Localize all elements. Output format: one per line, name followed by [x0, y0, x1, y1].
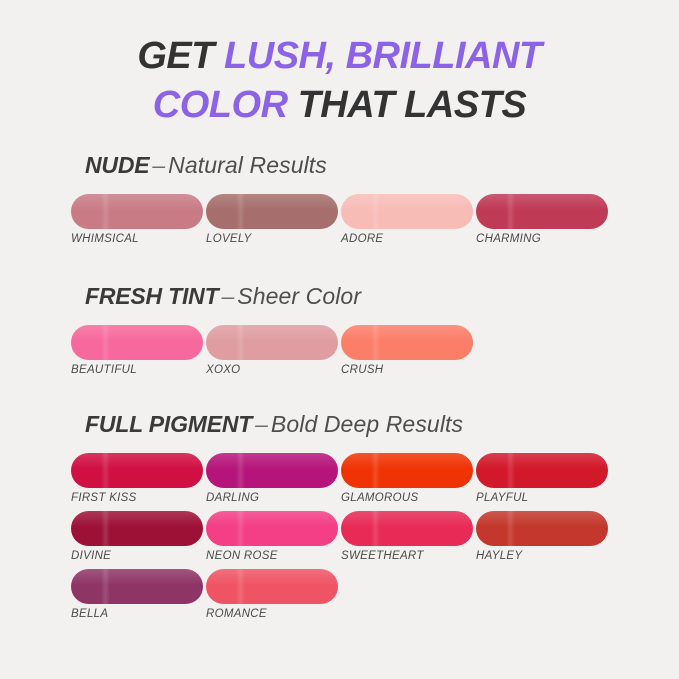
- swatch-item[interactable]: SWEETHEART: [341, 511, 475, 562]
- swatch-label: CHARMING: [476, 233, 610, 245]
- color-swatch[interactable]: [476, 453, 608, 488]
- section-subtitle: Natural Results: [168, 152, 327, 178]
- swatch-label: SWEETHEART: [341, 550, 475, 562]
- color-swatch[interactable]: [71, 194, 203, 229]
- swatch-label: NEON ROSE: [206, 550, 340, 562]
- swatch-label: LOVELY: [206, 233, 340, 245]
- swatch-label: WHIMSICAL: [71, 233, 205, 245]
- color-swatch[interactable]: [71, 569, 203, 604]
- section-dash: –: [218, 283, 237, 309]
- section-header-nude: NUDE–Natural Results: [85, 152, 679, 179]
- swatch-label: DARLING: [206, 492, 340, 504]
- headline-seg-lush-brilliant: LUSH, BRILLIANT: [224, 35, 542, 77]
- section-header-fresh-tint: FRESH TINT–Sheer Color: [85, 283, 679, 310]
- swatch-item[interactable]: HAYLEY: [476, 511, 610, 562]
- color-swatch[interactable]: [206, 194, 338, 229]
- color-swatch[interactable]: [206, 569, 338, 604]
- swatch-item[interactable]: XOXO: [206, 325, 340, 376]
- headline-line-1: GET LUSH, BRILLIANT: [0, 32, 679, 81]
- swatch-item[interactable]: BEAUTIFUL: [71, 325, 205, 376]
- lipstick-shade-chart: GET LUSH, BRILLIANT COLOR THAT LASTS NUD…: [0, 0, 679, 679]
- headline-seg-get: GET: [137, 35, 224, 77]
- swatch-item[interactable]: NEON ROSE: [206, 511, 340, 562]
- swatch-label: DIVINE: [71, 550, 205, 562]
- color-swatch[interactable]: [206, 511, 338, 546]
- swatch-label: PLAYFUL: [476, 492, 610, 504]
- headline-line-2: COLOR THAT LASTS: [0, 81, 679, 130]
- section-name: FRESH TINT: [85, 283, 218, 309]
- color-swatch[interactable]: [206, 325, 338, 360]
- swatch-item[interactable]: DIVINE: [71, 511, 205, 562]
- section-name: NUDE: [85, 152, 149, 178]
- section-nude: NUDE–Natural Results WHIMSICAL LOVELY AD…: [0, 152, 679, 252]
- swatch-item[interactable]: GLAMOROUS: [341, 453, 475, 504]
- swatch-label: CRUSH: [341, 364, 475, 376]
- swatch-label: GLAMOROUS: [341, 492, 475, 504]
- swatch-label: ADORE: [341, 233, 475, 245]
- section-subtitle: Bold Deep Results: [271, 411, 463, 437]
- swatch-item[interactable]: CHARMING: [476, 194, 610, 245]
- color-swatch[interactable]: [71, 511, 203, 546]
- swatch-item[interactable]: FIRST KISS: [71, 453, 205, 504]
- section-header-full-pigment: FULL PIGMENT–Bold Deep Results: [85, 411, 679, 438]
- color-swatch[interactable]: [476, 194, 608, 229]
- section-name: FULL PIGMENT: [85, 411, 252, 437]
- swatch-label: XOXO: [206, 364, 340, 376]
- color-swatch[interactable]: [341, 194, 473, 229]
- swatch-item[interactable]: CRUSH: [341, 325, 475, 376]
- swatch-label: FIRST KISS: [71, 492, 205, 504]
- headline-seg-that-lasts: THAT LASTS: [288, 84, 527, 126]
- swatch-item[interactable]: WHIMSICAL: [71, 194, 205, 245]
- color-swatch[interactable]: [341, 511, 473, 546]
- swatch-item[interactable]: BELLA: [71, 569, 205, 620]
- color-swatch[interactable]: [206, 453, 338, 488]
- swatch-grid-fresh-tint: BEAUTIFUL XOXO CRUSH: [71, 325, 679, 383]
- color-swatch[interactable]: [476, 511, 608, 546]
- color-swatch[interactable]: [341, 325, 473, 360]
- headline-seg-color: COLOR: [153, 84, 288, 126]
- color-swatch[interactable]: [341, 453, 473, 488]
- swatch-label: BELLA: [71, 608, 205, 620]
- swatch-grid-nude: WHIMSICAL LOVELY ADORE CHARMING: [71, 194, 679, 252]
- swatch-label: BEAUTIFUL: [71, 364, 205, 376]
- section-subtitle: Sheer Color: [237, 283, 361, 309]
- swatch-item[interactable]: LOVELY: [206, 194, 340, 245]
- swatch-label: HAYLEY: [476, 550, 610, 562]
- color-swatch[interactable]: [71, 325, 203, 360]
- swatch-item[interactable]: DARLING: [206, 453, 340, 504]
- swatch-item[interactable]: PLAYFUL: [476, 453, 610, 504]
- swatch-label: ROMANCE: [206, 608, 340, 620]
- section-dash: –: [252, 411, 271, 437]
- swatch-item[interactable]: ADORE: [341, 194, 475, 245]
- section-dash: –: [149, 152, 168, 178]
- page-headline: GET LUSH, BRILLIANT COLOR THAT LASTS: [0, 32, 679, 129]
- section-full-pigment: FULL PIGMENT–Bold Deep Results FIRST KIS…: [0, 411, 679, 627]
- swatch-item[interactable]: ROMANCE: [206, 569, 340, 620]
- swatch-grid-full-pigment: FIRST KISS DARLING GLAMOROUS PLAYFUL DIV…: [71, 453, 616, 627]
- section-fresh-tint: FRESH TINT–Sheer Color BEAUTIFUL XOXO CR…: [0, 283, 679, 383]
- color-swatch[interactable]: [71, 453, 203, 488]
